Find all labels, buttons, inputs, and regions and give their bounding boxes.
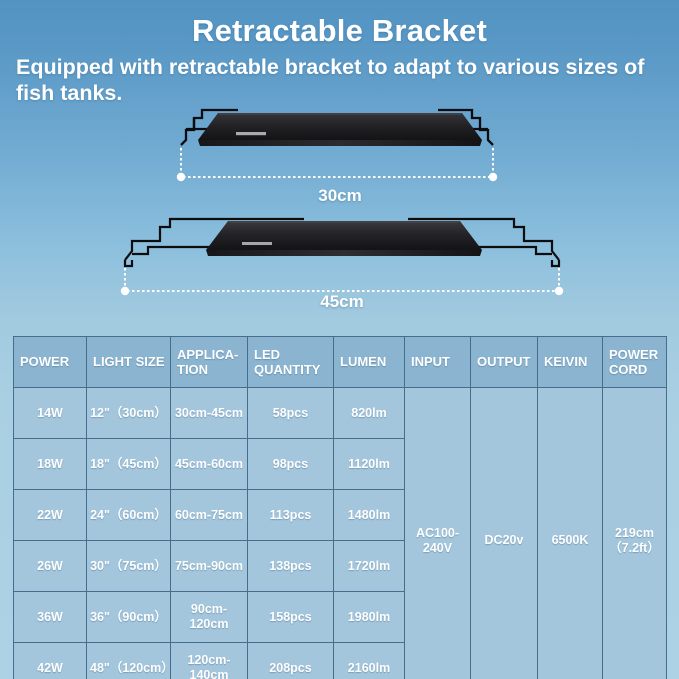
product-infographic: Retractable Bracket Equipped with retrac… [0,0,679,679]
column-header-light-size: LIGHT SIZE [87,337,171,388]
cell-lumen: 1120lm [334,439,405,490]
cell-power-cord: 219cm（7.2ft） [603,388,667,679]
column-header-power-cord: POWER CORD [603,337,667,388]
cell-application: 75cm-90cm [171,541,248,592]
cell-led-quantity: 98pcs [248,439,334,490]
cell-light-size: 24"（60cm） [87,490,171,541]
cell-power: 42W [14,643,87,679]
column-header-kelvin: KEIVIN [538,337,603,388]
cell-input: AC100-240V [405,388,471,679]
cell-power: 18W [14,439,87,490]
cell-power: 22W [14,490,87,541]
cell-application: 90cm-120cm [171,592,248,643]
cell-lumen: 1720lm [334,541,405,592]
column-header-led-quantity: LED QUANTITY [248,337,334,388]
cell-light-size: 12"（30cm） [87,388,171,439]
cell-led-quantity: 58pcs [248,388,334,439]
cell-power: 14W [14,388,87,439]
cell-light-size: 18"（45cm） [87,439,171,490]
cell-led-quantity: 138pcs [248,541,334,592]
table-row: 14W 12"（30cm） 30cm-45cm 58pcs 820lm AC10… [14,388,667,439]
cell-lumen: 2160lm [334,643,405,679]
cell-output: DC20v [471,388,538,679]
led-light-body [198,113,482,146]
dimension-line-30cm [177,148,497,181]
column-header-input: INPUT [405,337,471,388]
header-block: Retractable Bracket Equipped with retrac… [0,0,679,106]
cell-application: 45cm-60cm [171,439,248,490]
dimension-label-45cm: 45cm [108,292,576,312]
cell-led-quantity: 208pcs [248,643,334,679]
cell-kelvin: 6500K [538,388,603,679]
cell-power: 26W [14,541,87,592]
cell-light-size: 48"（120cm） [87,643,171,679]
cell-application: 120cm-140cm [171,643,248,679]
cell-light-size: 36"（90cm） [87,592,171,643]
cell-application: 60cm-75cm [171,490,248,541]
column-header-power: POWER [14,337,87,388]
cell-lumen: 1480lm [334,490,405,541]
cell-application: 30cm-45cm [171,388,248,439]
column-header-output: OUTPUT [471,337,538,388]
cell-lumen: 820lm [334,388,405,439]
cell-led-quantity: 113pcs [248,490,334,541]
cell-power: 36W [14,592,87,643]
column-header-lumen: LUMEN [334,337,405,388]
cell-light-size: 30"（75cm） [87,541,171,592]
cell-led-quantity: 158pcs [248,592,334,643]
led-light-body-extended [206,221,482,256]
page-title: Retractable Bracket [0,0,679,46]
dimension-label-30cm: 30cm [150,186,530,206]
cell-lumen: 1980lm [334,592,405,643]
table-header-row: POWER LIGHT SIZE APPLICA-TION LED QUANTI… [14,337,667,388]
specification-table: POWER LIGHT SIZE APPLICA-TION LED QUANTI… [13,336,667,679]
column-header-application: APPLICA-TION [171,337,248,388]
